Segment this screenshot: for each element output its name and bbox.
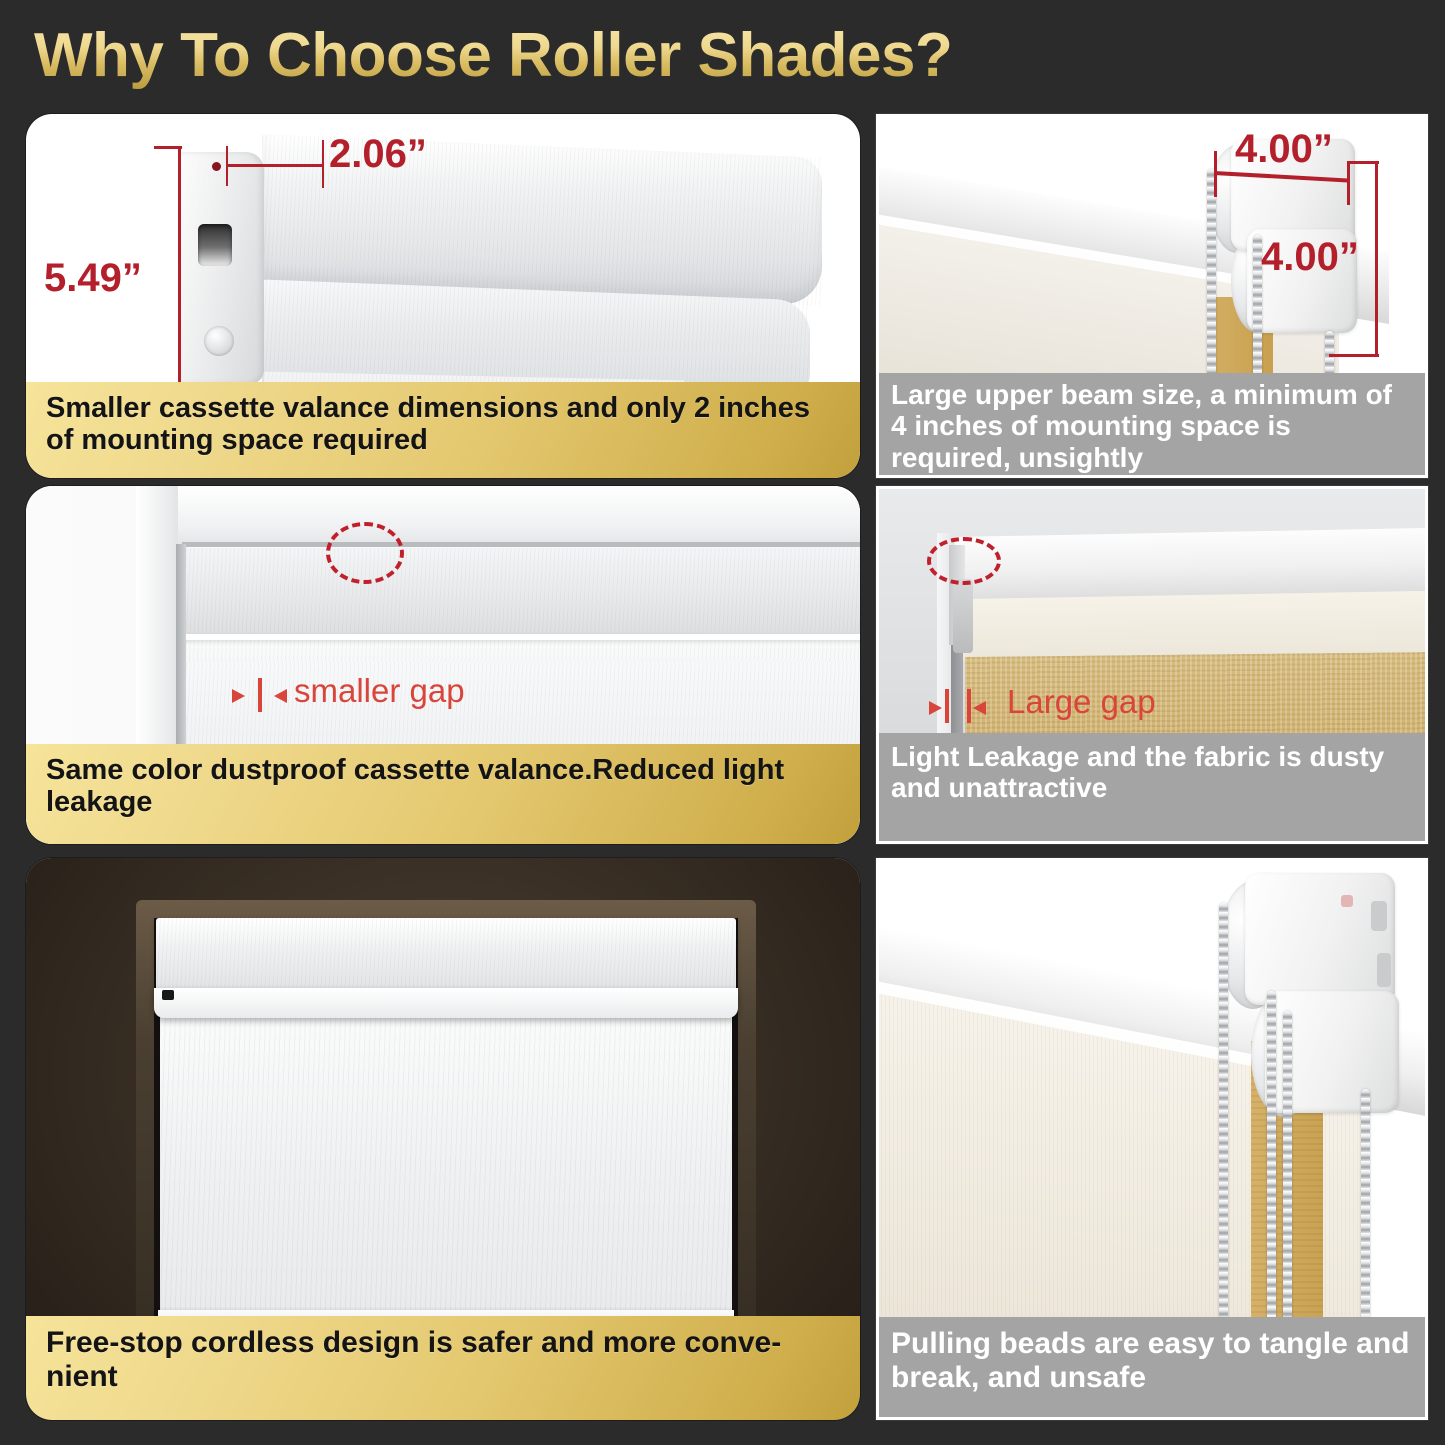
bracket-pin	[1341, 895, 1353, 907]
panel-4-caption-text: Light Leakage and the fabric is dusty an…	[891, 741, 1415, 804]
panel-2-caption: Large upper beam size, a minimum of 4 in…	[879, 373, 1425, 475]
valance-end-cap	[178, 152, 264, 384]
panel-smaller-cassette[interactable]: 2.06” 5.49” Smaller cassette valance dim…	[26, 114, 860, 478]
panel-free-stop-cordless[interactable]: Free-stop cordless design is safer and m…	[26, 858, 860, 1420]
valance-marker-dot	[212, 162, 221, 171]
valance-seam-line	[182, 542, 860, 547]
gap-marker-line-2	[945, 689, 949, 723]
panel-dustproof-valance[interactable]: smaller gap Same color dustproof cassett…	[26, 486, 860, 844]
panel-6-caption: Pulling beads are easy to tangle and bre…	[879, 1317, 1425, 1417]
valance-screw	[204, 326, 234, 356]
panel-5-caption: Free-stop cordless design is safer and m…	[26, 1316, 860, 1420]
gap-arrow-left	[232, 689, 245, 703]
gap-marker-line	[258, 678, 262, 712]
dimension-label-width-2: 4.00”	[1235, 127, 1333, 172]
dimension-label-height: 5.49”	[44, 256, 142, 301]
valance-slot	[198, 224, 232, 266]
shade-fabric	[160, 1016, 732, 1324]
panel-1-caption: Smaller cassette valance dimensions and …	[26, 382, 860, 478]
panel-large-upper-beam[interactable]: 4.00” 4.00” Large upper beam size, a min…	[876, 114, 1428, 478]
dim-tick-top	[154, 146, 182, 149]
panel-4-caption: Light Leakage and the fabric is dusty an…	[879, 733, 1425, 841]
panel-5-caption-text: Free-stop cordless design is safer and m…	[46, 1326, 842, 1393]
gap-arrow-right-2	[973, 701, 986, 715]
cassette-valance-lip	[154, 988, 738, 1018]
bead-chain-mid-2	[1267, 991, 1276, 1353]
gap-marker-line-2b	[967, 689, 971, 723]
dim-tick-bottom-2	[1329, 354, 1379, 357]
panel-light-leakage[interactable]: Large gap Light Leakage and the fabric i…	[876, 486, 1428, 844]
header: Why To Choose Roller Shades? Why To Choo…	[0, 0, 1445, 108]
highlight-circle-2	[927, 537, 1001, 585]
page-title: Why To Choose Roller Shades?	[34, 20, 952, 91]
bracket-slot-lower	[1377, 953, 1391, 987]
dimension-label-height-2: 4.00”	[1261, 235, 1359, 280]
bracket-clip	[953, 579, 973, 653]
panel-3-caption: Same color dustproof cassette valance.Re…	[26, 744, 860, 844]
mounting-bracket-upper-2	[1245, 873, 1395, 1005]
dim-line-width	[226, 164, 324, 167]
panel-3-caption-text: Same color dustproof cassette valance.Re…	[46, 754, 842, 819]
gap-callout-label: smaller gap	[294, 672, 465, 710]
shade-valance	[182, 548, 860, 636]
gap-arrow-right	[274, 689, 287, 703]
bead-chain-right-2	[1361, 1089, 1370, 1353]
panel-2-caption-text: Large upper beam size, a minimum of 4 in…	[891, 379, 1415, 473]
window-frame-top	[136, 486, 860, 544]
gap-callout-label-2: Large gap	[1007, 683, 1156, 721]
bead-chain-mid2-2	[1283, 1011, 1292, 1353]
dim-tick-right-2	[1347, 163, 1350, 205]
dim-tick-top-2	[1347, 161, 1379, 164]
bracket-slot-upper	[1371, 901, 1387, 931]
valance-end-detail	[162, 990, 174, 1000]
gap-arrow-left-2	[929, 701, 942, 715]
highlight-circle	[326, 522, 404, 584]
valance-lip-line	[182, 634, 860, 640]
dimension-label-width: 2.06”	[329, 132, 427, 177]
cream-fabric-band	[963, 589, 1425, 661]
dim-line-height-2	[1375, 161, 1378, 357]
panel-1-caption-text: Smaller cassette valance dimensions and …	[46, 392, 842, 457]
panel-pulling-beads[interactable]: Pulling beads are easy to tangle and bre…	[876, 858, 1428, 1420]
bead-chain-left-2	[1219, 903, 1228, 1353]
panel-6-caption-text: Pulling beads are easy to tangle and bre…	[891, 1327, 1415, 1394]
